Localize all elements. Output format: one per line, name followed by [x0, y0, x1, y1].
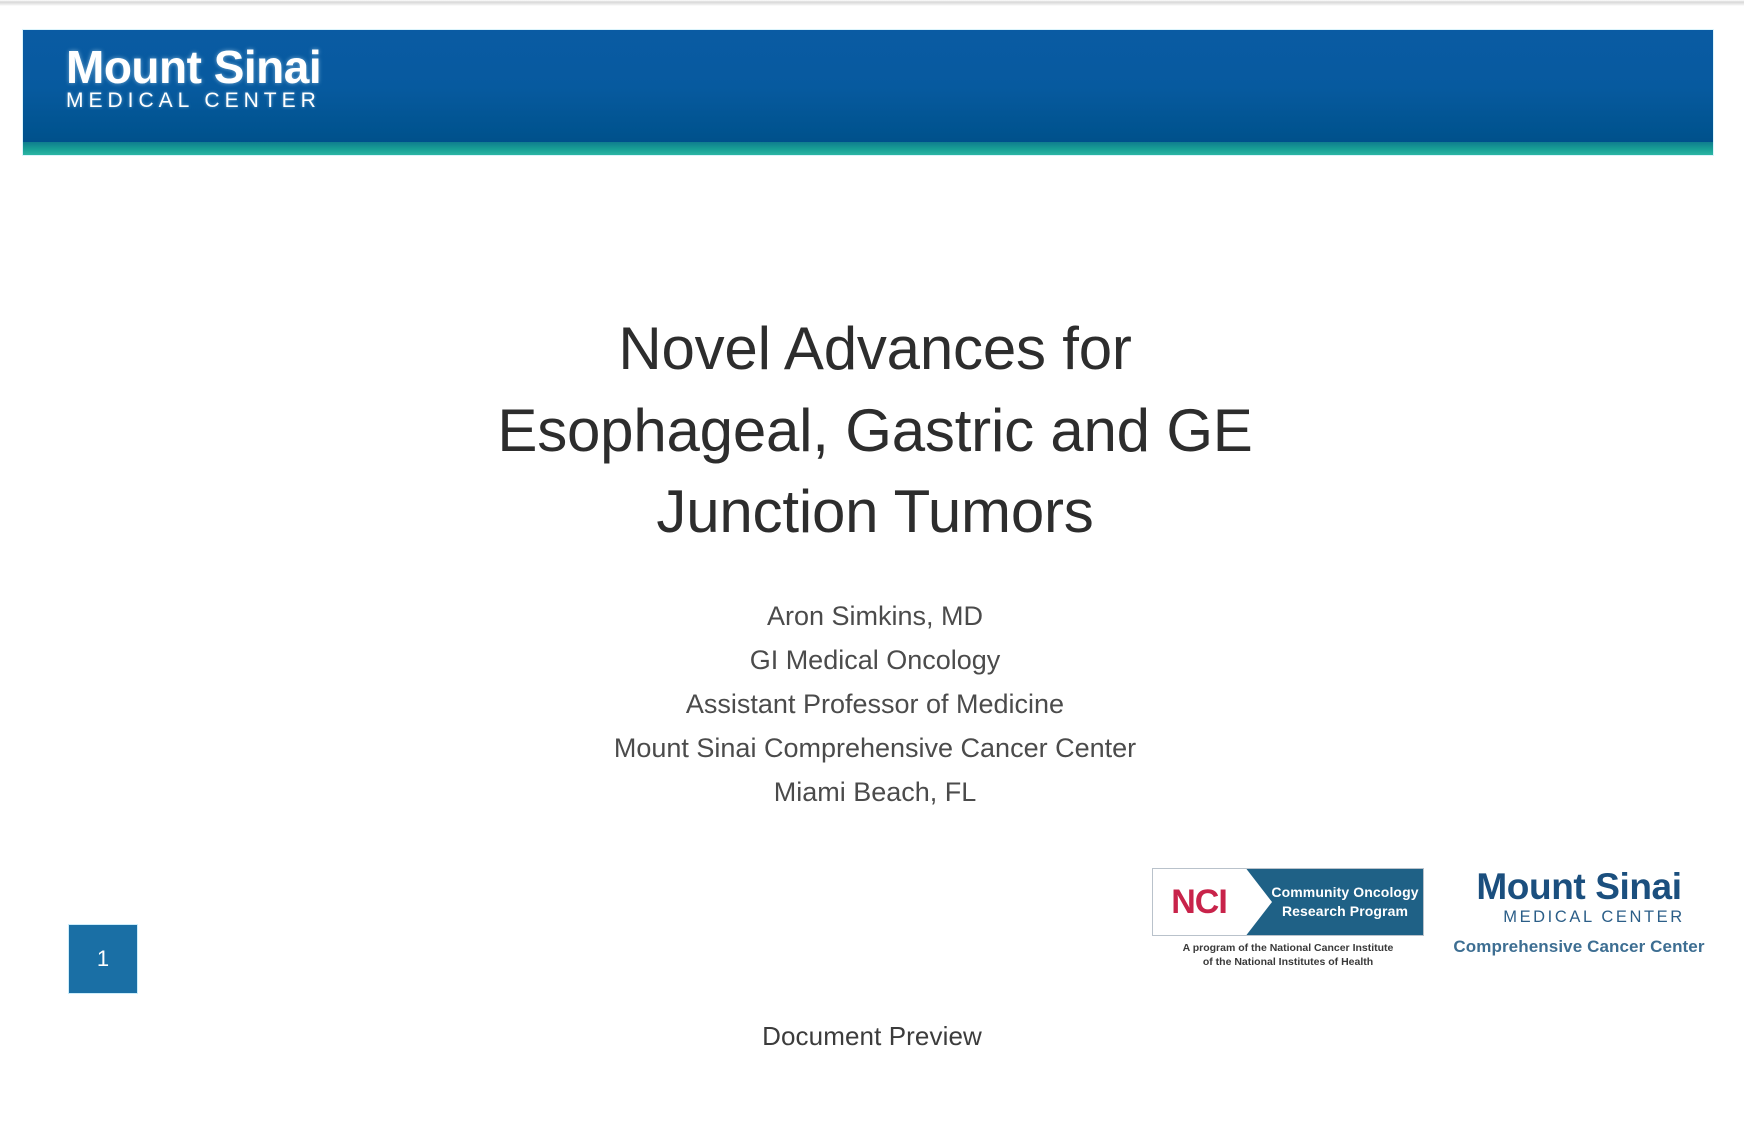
slide-title-line-2: Esophageal, Gastric and GE: [230, 390, 1520, 472]
ms-ccc-tagline: Comprehensive Cancer Center: [1446, 937, 1712, 957]
mount-sinai-logo-subwordmark: MEDICAL CENTER: [66, 89, 323, 113]
page-number-badge: 1: [69, 925, 137, 993]
slide-header-banner: Mount Sinai MEDICAL CENTER: [23, 30, 1713, 155]
nci-footnote: A program of the National Cancer Institu…: [1152, 941, 1424, 969]
slide-page: Mount Sinai MEDICAL CENTER Novel Advance…: [0, 6, 1744, 1006]
byline-author-name: Aron Simkins, MD: [230, 594, 1520, 638]
byline-institution: Mount Sinai Comprehensive Cancer Center: [230, 726, 1520, 770]
nci-corp-logo: Community Oncology Research Program NCI …: [1152, 868, 1424, 969]
byline-location: Miami Beach, FL: [230, 770, 1520, 814]
nci-band-line-1: Community Oncology: [1271, 883, 1418, 902]
mount-sinai-logo-wordmark: Mount Sinai: [66, 44, 323, 91]
slide-title-line-3: Junction Tumors: [230, 471, 1520, 553]
nci-logo-lockup: Community Oncology Research Program NCI: [1152, 868, 1424, 936]
slide-title: Novel Advances for Esophageal, Gastric a…: [230, 308, 1520, 553]
ms-ccc-wordmark: Mount Sinai: [1446, 868, 1712, 906]
slide-byline: Aron Simkins, MD GI Medical Oncology Ass…: [230, 594, 1520, 814]
document-preview-caption: Document Preview: [0, 1021, 1744, 1052]
byline-department: GI Medical Oncology: [230, 638, 1520, 682]
slide-title-line-1: Novel Advances for: [230, 308, 1520, 390]
page-number-value: 1: [97, 948, 109, 970]
nci-mark-text: NCI: [1171, 885, 1227, 919]
nci-mark: NCI: [1153, 869, 1245, 935]
byline-academic-title: Assistant Professor of Medicine: [230, 682, 1520, 726]
mount-sinai-logo: Mount Sinai MEDICAL CENTER: [66, 44, 323, 113]
nci-band-line-2: Research Program: [1282, 902, 1408, 921]
slide-logo-strip: Community Oncology Research Program NCI …: [1152, 868, 1712, 980]
nci-footnote-line-2: of the National Institutes of Health: [1152, 955, 1424, 969]
mount-sinai-ccc-logo: Mount Sinai MEDICAL CENTER Comprehensive…: [1446, 868, 1712, 957]
banner-accent-rule: [23, 142, 1713, 155]
ms-ccc-subwordmark: MEDICAL CENTER: [1446, 907, 1712, 928]
nci-footnote-line-1: A program of the National Cancer Institu…: [1152, 941, 1424, 955]
